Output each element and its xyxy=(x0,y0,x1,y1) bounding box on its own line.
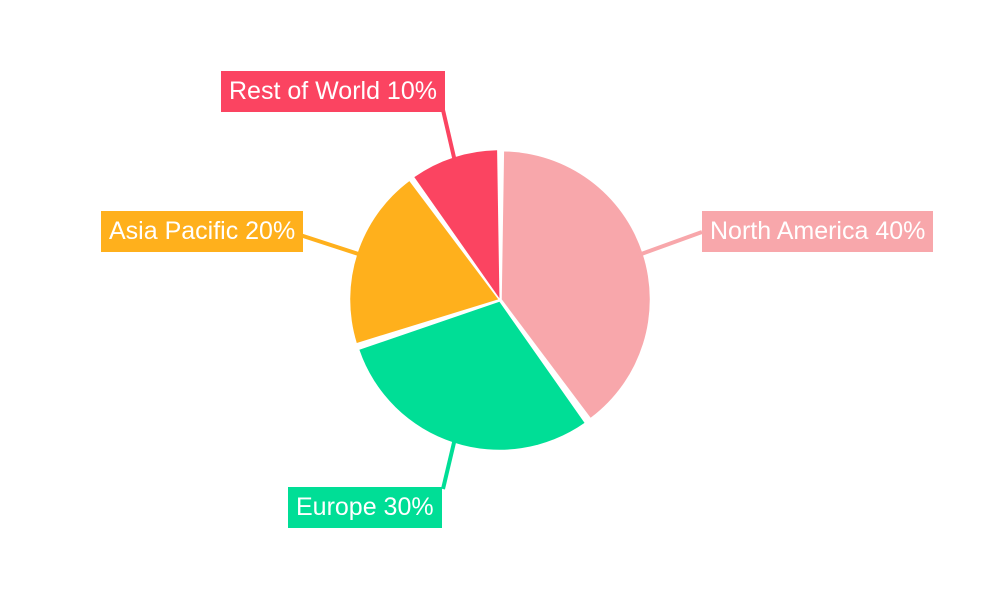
pie-label-asia-pacific[interactable]: Asia Pacific 20% xyxy=(101,211,303,252)
leader-line-europe xyxy=(443,439,455,489)
pie-slice-group xyxy=(350,150,650,450)
leader-line-rest-of-world xyxy=(443,110,455,161)
pie-label-north-america[interactable]: North America 40% xyxy=(702,211,933,252)
leader-line-north-america xyxy=(639,232,702,255)
pie-label-rest-of-world[interactable]: Rest of World 10% xyxy=(221,71,445,112)
pie-label-text-asia-pacific: Asia Pacific 20% xyxy=(109,219,295,244)
pie-label-europe[interactable]: Europe 30% xyxy=(288,487,442,528)
pie-chart-figure: North America 40% Europe 30% Asia Pacifi… xyxy=(0,0,1000,600)
leader-line-asia-pacific xyxy=(297,234,361,255)
pie-label-text-north-america: North America 40% xyxy=(710,219,925,244)
pie-label-text-rest-of-world: Rest of World 10% xyxy=(229,79,437,104)
pie-chart-canvas xyxy=(0,0,1000,600)
pie-label-text-europe: Europe 30% xyxy=(296,495,434,520)
